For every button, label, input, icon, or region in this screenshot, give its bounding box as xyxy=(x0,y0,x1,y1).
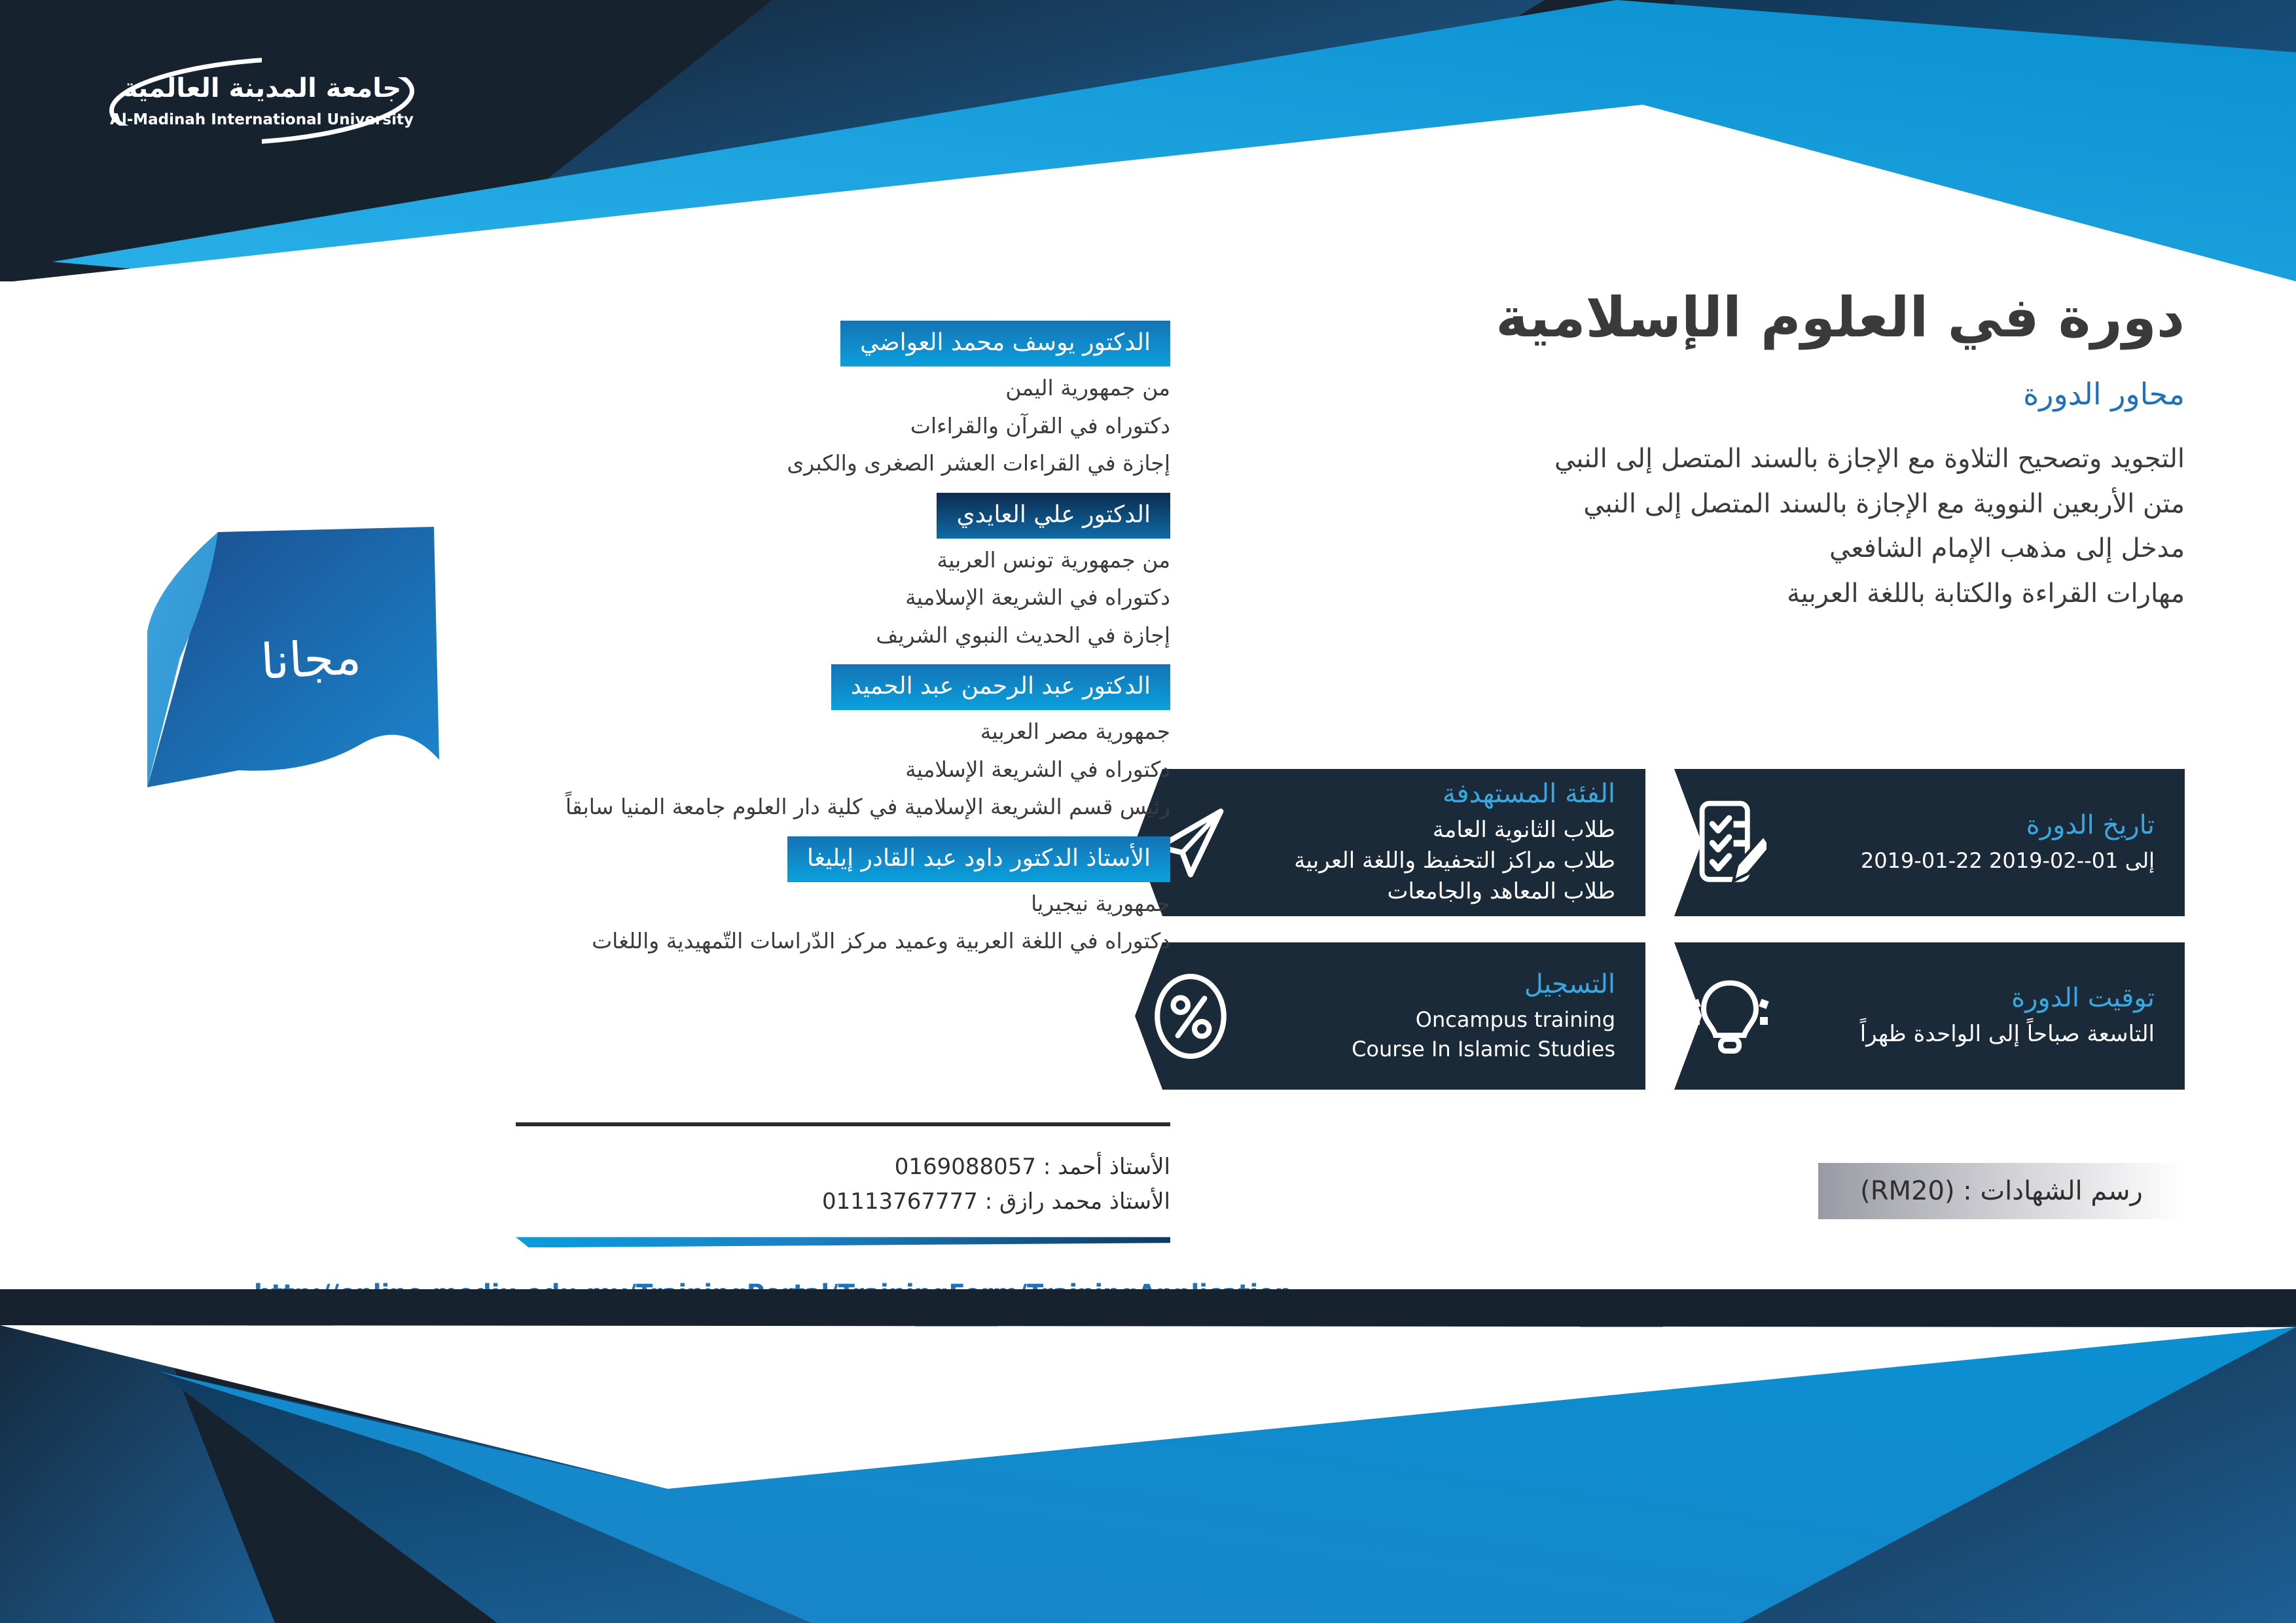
card-value: التاسعة صباحاً إلى الواحدة ظهراً xyxy=(1799,1019,2155,1050)
info-card-target-audience: الفئة المستهدفة طلاب الثانوية العامة طلا… xyxy=(1135,769,1645,916)
info-card-course-date: تاريخ الدورة 2019-01-22 إلى 01--02-2019 xyxy=(1674,769,2185,916)
info-card-course-time: توقيت الدورة التاسعة صباحاً إلى الواحدة … xyxy=(1674,942,2185,1090)
instructor-detail: جمهورية مصر العربية xyxy=(516,715,1170,748)
card-value: Course In Islamic Studies xyxy=(1259,1035,1615,1063)
certificate-fee-label: رسم الشهادات : (RM20) xyxy=(1860,1176,2143,1206)
card-title: التسجيل xyxy=(1259,969,1615,1000)
divider xyxy=(516,1122,1170,1126)
instructor-name: الدكتور علي العايدي xyxy=(937,493,1170,539)
certificate-fee-banner: رسم الشهادات : (RM20) xyxy=(1818,1163,2185,1219)
instructor-detail: دكتوراه في الشريعة الإسلامية xyxy=(516,581,1170,614)
instructor-detail: دكتوراه في القرآن والقراءات xyxy=(516,410,1170,442)
topic-item: التجويد وتصحيح التلاوة مع الإجازة بالسند… xyxy=(1255,437,2185,482)
instructor-name: الأستاذ الدكتور داود عبد القادر إيليغا xyxy=(787,836,1170,882)
instructors-column: الدكتور يوسف محمد العواضي من جمهورية الي… xyxy=(516,321,1170,971)
instructor-entry: الدكتور علي العايدي من جمهورية تونس العر… xyxy=(516,493,1170,652)
card-value: 2019-01-22 إلى 01--02-2019 xyxy=(1799,846,2155,875)
topic-item: مدخل إلى مذهب الإمام الشافعي xyxy=(1255,526,2185,571)
instructor-detail: إجازة في القراءات العشر الصغرى والكبرى xyxy=(516,447,1170,480)
free-badge: مجانا xyxy=(147,527,475,795)
ribbon-shape-icon xyxy=(147,527,475,795)
instructor-detail: دكتوراه في الشريعة الإسلامية xyxy=(516,753,1170,786)
card-value: طلاب المعاهد والجامعات xyxy=(1259,876,1615,907)
info-card-registration: التسجيل Oncampus training Course In Isla… xyxy=(1135,942,1645,1090)
page-title: دورة في العلوم الإسلامية xyxy=(1255,288,2185,348)
logo-english-text: Al-Madinah International University xyxy=(98,111,425,128)
card-title: الفئة المستهدفة xyxy=(1259,778,1615,810)
venue-label: موقع : جامعة المدينة العالمية xyxy=(1869,1286,2185,1316)
percent-icon xyxy=(1135,973,1246,1060)
instructor-detail: دكتوراه في اللغة العربية وعميد مركز الدّ… xyxy=(516,925,1170,957)
instructor-entry: الدكتور يوسف محمد العواضي من جمهورية الي… xyxy=(516,321,1170,480)
logo-arabic-text: جامعة المدينة العالمية xyxy=(98,73,425,103)
info-cards-grid: تاريخ الدورة 2019-01-22 إلى 01--02-2019 … xyxy=(1052,769,2185,1090)
clipboard-checklist-icon xyxy=(1674,799,1785,887)
lightbulb-icon xyxy=(1674,974,1785,1059)
contacts-block: الأستاذ أحمد : 0169088057 الأستاذ محمد ر… xyxy=(516,1122,1170,1247)
instructor-entry: الأستاذ الدكتور داود عبد القادر إيليغا ج… xyxy=(516,836,1170,957)
topics-list: التجويد وتصحيح التلاوة مع الإجازة بالسند… xyxy=(1255,437,2185,616)
contact-line: الأستاذ محمد رازق : 01113767777 xyxy=(516,1185,1170,1219)
instructor-detail: إجازة في الحديث النبوي الشريف xyxy=(516,619,1170,652)
card-value: طلاب الثانوية العامة xyxy=(1259,815,1615,846)
instructor-entry: الدكتور عبد الرحمن عبد الحميد جمهورية مص… xyxy=(516,664,1170,823)
topics-heading: محاور الدورة xyxy=(1255,376,2185,412)
instructor-detail: من جمهورية تونس العربية xyxy=(516,544,1170,577)
card-value: طلاب مراكز التحفيظ واللغة العربية xyxy=(1259,846,1615,876)
card-title: توقيت الدورة xyxy=(1799,982,2155,1014)
venue-address: Pusat Perdagangan Salak II, No, 18-G, Ja… xyxy=(1164,1345,2185,1403)
main-content-column: دورة في العلوم الإسلامية محاور الدورة ال… xyxy=(1255,288,2185,616)
instructor-name: الدكتور يوسف محمد العواضي xyxy=(840,321,1170,366)
university-logo: جامعة المدينة العالمية Al-Madinah Intern… xyxy=(98,55,425,147)
contact-line: الأستاذ أحمد : 0169088057 xyxy=(516,1150,1170,1185)
instructor-name: الدكتور عبد الرحمن عبد الحميد xyxy=(831,664,1170,710)
topic-item: متن الأربعين النووية مع الإجازة بالسند ا… xyxy=(1255,482,2185,527)
card-title: تاريخ الدورة xyxy=(1799,810,2155,841)
instructor-detail: رئيس قسم الشريعة الإسلامية في كلية دار ا… xyxy=(516,791,1170,823)
footer-decoration xyxy=(0,1289,2296,1623)
course-poster: جامعة المدينة العالمية Al-Madinah Intern… xyxy=(0,0,2296,1623)
topic-item: مهارات القراءة والكتابة باللغة العربية xyxy=(1255,571,2185,616)
card-value: Oncampus training xyxy=(1259,1005,1615,1034)
instructor-detail: من جمهورية اليمن xyxy=(516,372,1170,404)
divider xyxy=(516,1237,1170,1247)
application-link[interactable]: http://online.mediu.edu.my/TrainingPorta… xyxy=(254,1279,1170,1308)
instructor-detail: جمهورية نيجيريا xyxy=(516,887,1170,920)
